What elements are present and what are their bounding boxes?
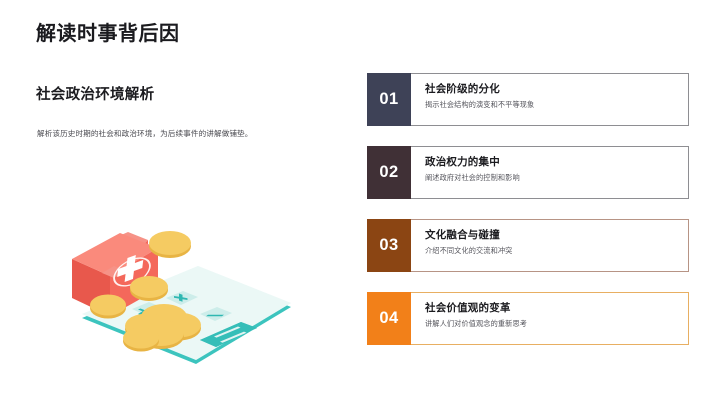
card-body-01: 社会阶级的分化 揭示社会结构的演变和不平等现象 (411, 73, 689, 126)
card-body-04: 社会价值观的变革 讲解人们对价值观念的重新思考 (411, 292, 689, 345)
left-text-column: 解读时事背后因 (36, 22, 346, 46)
card-subtitle-03: 介绍不同文化的交流和冲突 (425, 246, 678, 255)
card-body-02: 政治权力的集中 阐述政府对社会的控制和影响 (411, 146, 689, 199)
card-body-03: 文化融合与碰撞 介绍不同文化的交流和冲突 (411, 219, 689, 272)
card-title-03: 文化融合与碰撞 (425, 229, 678, 242)
card-title-01: 社会阶级的分化 (425, 83, 678, 96)
card-number-badge-02: 02 (367, 146, 411, 199)
card-item-03[interactable]: 03 文化融合与碰撞 介绍不同文化的交流和冲突 (367, 219, 689, 272)
card-subtitle-02: 阐述政府对社会的控制和影响 (425, 173, 678, 182)
card-item-04[interactable]: 04 社会价值观的变革 讲解人们对价值观念的重新思考 (367, 292, 689, 345)
card-subtitle-04: 讲解人们对价值观念的重新思考 (425, 319, 678, 328)
card-item-01[interactable]: 01 社会阶级的分化 揭示社会结构的演变和不平等现象 (367, 73, 689, 126)
card-number-badge-04: 04 (367, 292, 411, 345)
section-heading: 社会政治环境解析 (36, 83, 154, 104)
page-title: 解读时事背后因 (36, 22, 346, 46)
card-item-02[interactable]: 02 政治权力的集中 阐述政府对社会的控制和影响 (367, 146, 689, 199)
numbered-card-list: 01 社会阶级的分化 揭示社会结构的演变和不平等现象 02 政治权力的集中 阐述… (367, 73, 689, 345)
card-subtitle-01: 揭示社会结构的演变和不平等现象 (425, 100, 678, 109)
card-title-04: 社会价值观的变革 (425, 302, 678, 315)
slide-canvas: 解读时事背后因 社会政治环境解析 解析该历史时期的社会和政治环境，为后续事件的讲… (0, 0, 720, 404)
card-title-02: 政治权力的集中 (425, 156, 678, 169)
card-number-badge-03: 03 (367, 219, 411, 272)
card-number-badge-01: 01 (367, 73, 411, 126)
medical-kit-coins-calculator-illustration (48, 212, 338, 387)
section-body-text: 解析该历史时期的社会和政治环境，为后续事件的讲解做铺垫。 (37, 128, 337, 139)
